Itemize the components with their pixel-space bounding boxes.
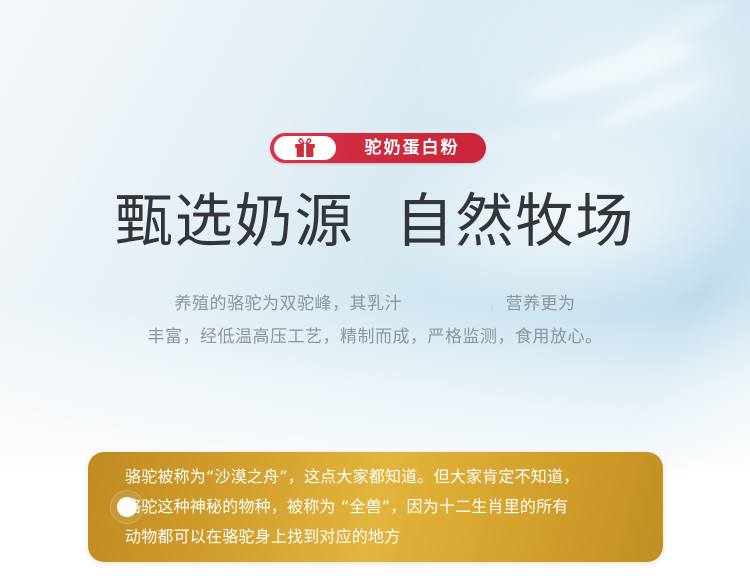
page-title: 甄选奶源 自然牧场 bbox=[0, 186, 750, 256]
body-line-1-gap-mark: ， bbox=[488, 294, 506, 314]
cloud-wisp-icon bbox=[588, 72, 715, 136]
callout-line-3: 动物都可以在骆驼身上找到对应的地方 bbox=[125, 522, 655, 552]
product-badge: 驼奶蛋白粉 bbox=[270, 133, 486, 163]
promo-page: 驼奶蛋白粉 甄选奶源 自然牧场 养殖的骆驼为双驼峰，其乳汁，营养更为 丰富，经低… bbox=[0, 0, 750, 578]
cloud-wisp-icon bbox=[622, 0, 728, 65]
body-paragraph: 养殖的骆驼为双驼峰，其乳汁，营养更为 丰富，经低温高压工艺，精制而成，严格监测，… bbox=[75, 288, 675, 354]
body-line-1: 养殖的骆驼为双驼峰，其乳汁，营养更为 bbox=[75, 288, 675, 321]
badge-label: 驼奶蛋白粉 bbox=[344, 133, 480, 163]
cloud-wisp-icon bbox=[520, 34, 700, 109]
callout-card: 骆驼被称为“沙漠之舟”，这点大家都知道。但大家肯定不知道， 骆驼这种神秘的物种，… bbox=[88, 452, 663, 562]
top-gold-rule bbox=[0, 0, 750, 4]
body-line-1-after-gap: 营养更为 bbox=[506, 294, 576, 314]
cloud-wisp-icon bbox=[470, 122, 591, 157]
badge-icon-pill bbox=[274, 136, 336, 160]
body-line-2: 丰富，经低温高压工艺，精制而成，严格监测，食用放心。 bbox=[75, 321, 675, 354]
gift-icon bbox=[294, 138, 316, 158]
callout-text: 骆驼被称为“沙漠之舟”，这点大家都知道。但大家肯定不知道， 骆驼这种神秘的物种，… bbox=[125, 462, 655, 552]
callout-line-1: 骆驼被称为“沙漠之舟”，这点大家都知道。但大家肯定不知道， bbox=[125, 462, 655, 492]
callout-line-2: 骆驼这种神秘的物种，被称为 “全兽”，因为十二生肖里的所有 bbox=[125, 492, 655, 522]
body-line-1-before-gap: 养殖的骆驼为双驼峰，其乳汁 bbox=[175, 294, 403, 314]
